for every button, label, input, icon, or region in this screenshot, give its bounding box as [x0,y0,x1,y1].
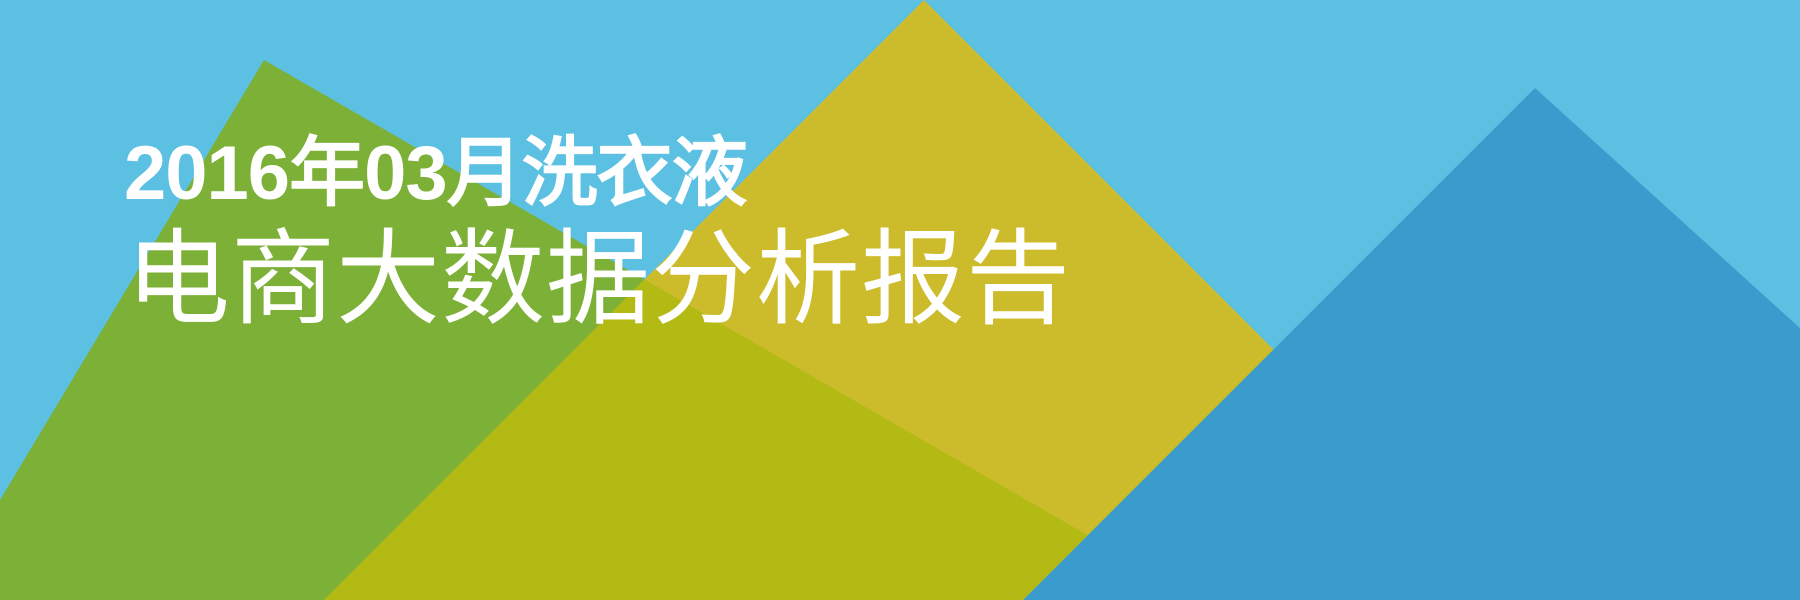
report-cover-banner: 2016年03月洗衣液 电商大数据分析报告 [0,0,1800,600]
banner-background-artwork [0,0,1800,600]
